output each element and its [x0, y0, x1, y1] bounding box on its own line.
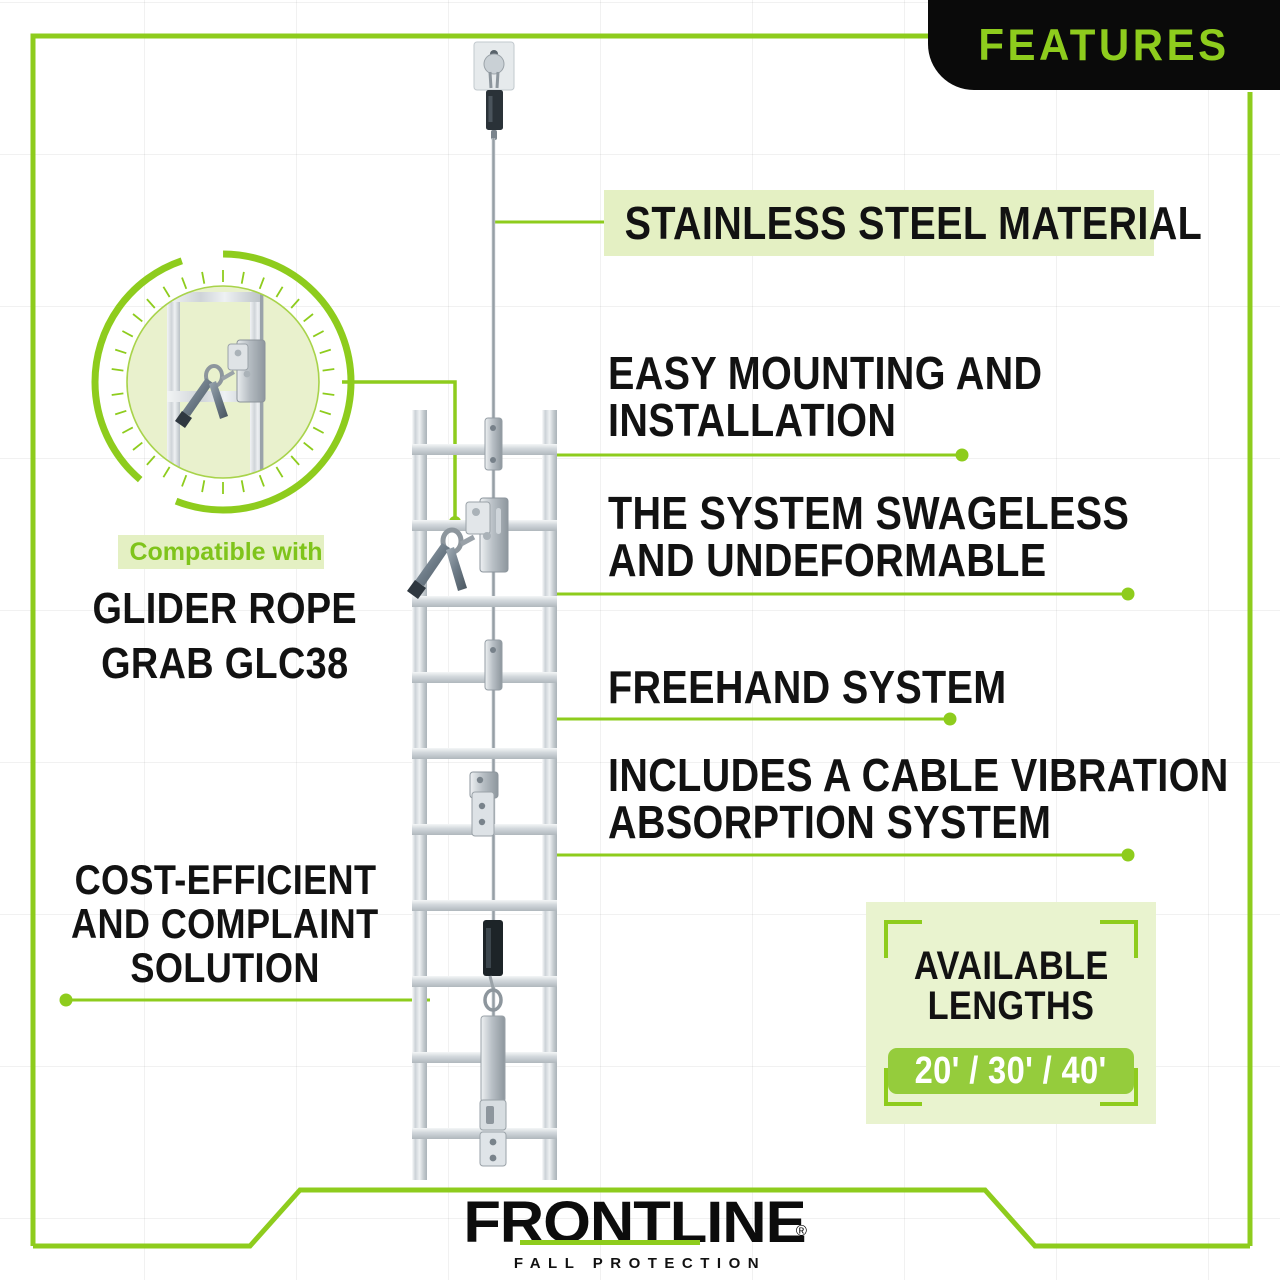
feature-easy-mounting-line-1: EASY MOUNTING AND	[608, 350, 1042, 397]
compatible-product-line-2: GRAB GLC38	[101, 639, 348, 688]
feature-swageless-line-2: AND UNDEFORMABLE	[608, 537, 1129, 584]
available-lengths-title-line-2: LENGTHS	[928, 986, 1095, 1026]
available-lengths-values: 20' / 30' / 40'	[915, 1052, 1107, 1090]
compatible-with-label: Compatible with	[126, 536, 326, 568]
infographic-root: FEATURES	[0, 0, 1280, 1280]
cost-efficient-block: COST-EFFICIENT AND COMPLAINT SOLUTION	[40, 858, 410, 990]
features-banner: FEATURES	[928, 0, 1280, 90]
features-banner-title: FEATURES	[978, 20, 1229, 71]
feature-cable-vibration: INCLUDES A CABLE VIBRATION ABSORPTION SY…	[608, 752, 1280, 846]
ladder-cable-system-photo	[392, 20, 602, 1180]
feature-swageless-line-1: THE SYSTEM SWAGELESS	[608, 490, 1129, 537]
feature-easy-mounting-line-2: INSTALLATION	[608, 397, 1042, 444]
compatible-product-name: GLIDER ROPE GRAB GLC38	[60, 584, 390, 689]
feature-cable-vibration-line-1: INCLUDES A CABLE VIBRATION	[608, 752, 1229, 799]
available-lengths-pill: 20' / 30' / 40'	[888, 1048, 1134, 1094]
available-lengths-title: AVAILABLE LENGTHS	[866, 946, 1156, 1026]
feature-stainless-steel-label: STAINLESS STEEL MATERIAL	[604, 200, 1202, 247]
compatible-product-line-1: GLIDER ROPE	[93, 584, 357, 633]
frontline-logo: FRONTLINE® FALL PROTECTION	[0, 1194, 1280, 1273]
available-lengths-box: AVAILABLE LENGTHS 20' / 30' / 40'	[866, 902, 1156, 1124]
magnifier-circle-icon	[82, 248, 364, 516]
feature-cable-vibration-line-2: ABSORPTION SYSTEM	[608, 799, 1229, 846]
logo-green-bar	[520, 1240, 700, 1245]
cost-line-3: SOLUTION	[130, 946, 319, 990]
cost-line-1: COST-EFFICIENT	[74, 858, 376, 902]
available-lengths-title-line-1: AVAILABLE	[914, 946, 1109, 986]
feature-freehand-system: FREEHAND SYSTEM	[608, 664, 1071, 711]
feature-easy-mounting: EASY MOUNTING AND INSTALLATION	[608, 350, 1113, 444]
feature-stainless-steel-highlight: STAINLESS STEEL MATERIAL	[604, 190, 1154, 256]
cost-line-2: AND COMPLAINT	[71, 902, 378, 946]
logo-tagline: FALL PROTECTION	[473, 1255, 807, 1272]
feature-freehand-system-label: FREEHAND SYSTEM	[608, 664, 1007, 711]
feature-swageless: THE SYSTEM SWAGELESS AND UNDEFORMABLE	[608, 490, 1214, 584]
